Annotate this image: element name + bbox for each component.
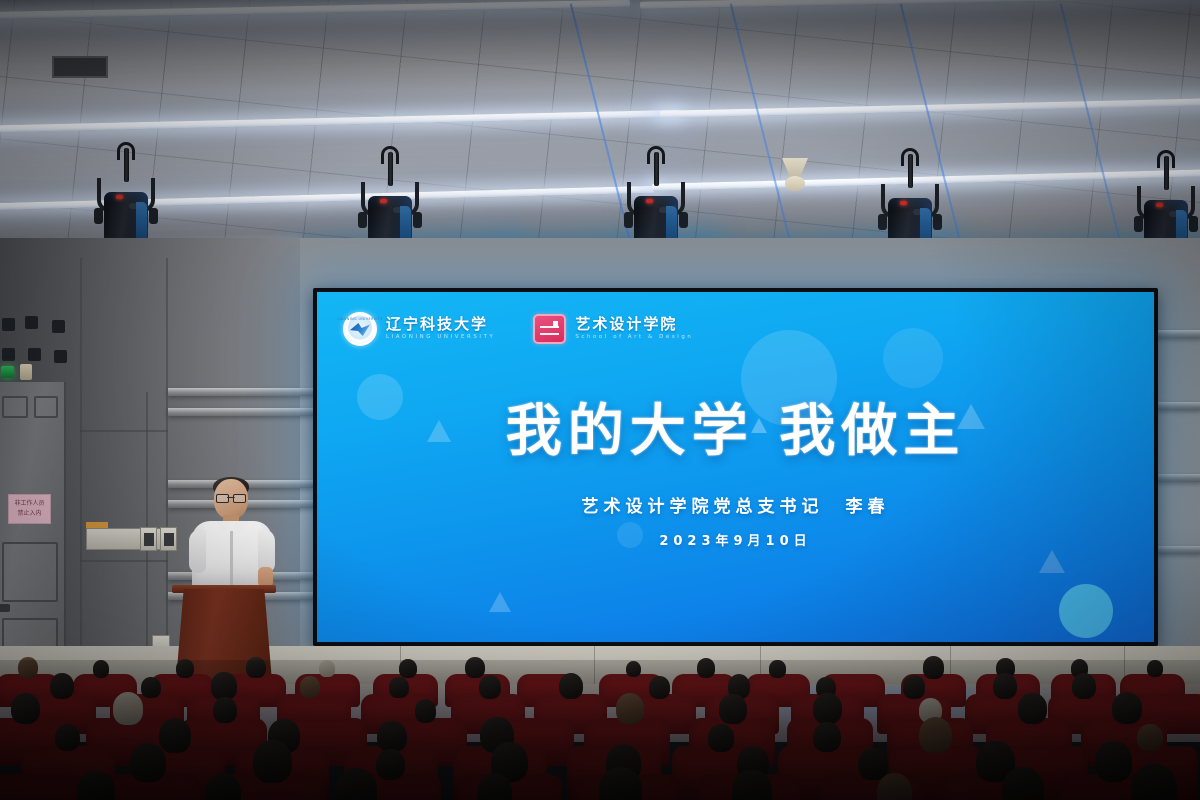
- stage-light-ear: [1189, 216, 1198, 232]
- speaker-shirt-placket: [230, 531, 233, 589]
- audience-head: [141, 677, 161, 698]
- slide-decor-triangle: [1039, 550, 1065, 573]
- door-warning-sign: 非工作人员 禁止入内: [8, 494, 51, 524]
- audience-head: [1137, 724, 1162, 752]
- audience-head: [649, 676, 670, 699]
- audience-head: [319, 660, 335, 677]
- stage-light-rod: [654, 152, 659, 186]
- school-name-cn: 艺术设计学院: [575, 317, 693, 333]
- wall-ledge: [1156, 330, 1200, 338]
- wall-ledge: [1156, 474, 1200, 482]
- audience-head: [300, 676, 320, 698]
- door-panel: [34, 396, 58, 418]
- wall-seam: [80, 258, 82, 678]
- audience-head: [211, 672, 237, 700]
- audience-head: [246, 657, 266, 679]
- auditorium-scene: 非工作人员 禁止入内 LIAONING UNIVERSITY 辽宁科技大学 LI…: [0, 0, 1200, 800]
- speaker-person: [188, 479, 276, 591]
- speaker-sleeve-left: [189, 529, 206, 573]
- slide-main-title: 我的大学 我做主: [317, 404, 1154, 460]
- audience-head: [130, 743, 166, 782]
- audience-head: [93, 660, 110, 678]
- audience-head: [377, 721, 406, 753]
- stage-light-rod: [1164, 156, 1169, 190]
- glasses-icon: [216, 494, 246, 501]
- audience-head: [77, 771, 115, 800]
- stage-light-ear: [679, 212, 688, 228]
- stage-light-led-icon: [646, 199, 653, 203]
- audience-head: [465, 657, 485, 678]
- audience-head: [18, 657, 38, 678]
- stage-light-ear: [413, 212, 422, 228]
- stage-light-ear: [149, 208, 158, 224]
- audience-head: [626, 661, 641, 678]
- wall-lamp-icon: [20, 364, 32, 380]
- stage-light-rod: [124, 148, 129, 182]
- audience-head: [399, 659, 417, 678]
- led-screen-frame: LIAONING UNIVERSITY 辽宁科技大学 LIAONING UNIV…: [313, 288, 1158, 646]
- wall-socket[interactable]: [140, 527, 157, 551]
- university-emblem-icon: LIAONING UNIVERSITY: [343, 312, 377, 346]
- audience-head: [1112, 692, 1142, 724]
- audience-head: [376, 749, 405, 781]
- audience-head: [708, 724, 734, 752]
- audience-head: [479, 675, 501, 699]
- audience-head: [616, 693, 645, 724]
- university-emblem-ring-text: LIAONING UNIVERSITY: [337, 317, 382, 321]
- audience-head: [253, 740, 293, 783]
- wall-vent-square: [2, 318, 15, 331]
- audience-head: [176, 659, 194, 678]
- slide-decor-circle: [1059, 584, 1113, 638]
- university-name-en: LIAONING UNIVERSITY: [386, 333, 495, 342]
- slide-subtitle: 艺术设计学院党总支书记 李春: [317, 492, 1154, 517]
- door-panel: [2, 396, 28, 418]
- exit-indicator-icon: [1, 366, 14, 378]
- wall-vent-square: [25, 316, 38, 329]
- university-name-cn: 辽宁科技大学: [386, 317, 495, 333]
- wall-seam: [80, 430, 168, 432]
- school-of-art-logo: 艺术设计学院 School of Art & Design: [533, 314, 693, 344]
- school-name-en: School of Art & Design: [575, 333, 693, 342]
- wall-ledge: [1156, 546, 1200, 554]
- audience-head: [1002, 767, 1044, 800]
- university-logo: LIAONING UNIVERSITY 辽宁科技大学 LIAONING UNIV…: [343, 312, 495, 346]
- art-school-seal-icon: [533, 314, 566, 344]
- stage-light-ear: [94, 208, 103, 224]
- stage-light-rod: [388, 152, 393, 186]
- stage-light-ear: [1134, 216, 1143, 232]
- stage-light-ear: [933, 214, 942, 230]
- audience-head: [55, 724, 80, 751]
- stage-light-rod: [908, 154, 913, 188]
- wall-vent-square: [2, 348, 15, 361]
- door-handle[interactable]: [0, 604, 10, 612]
- door-sign-line2: 禁止入内: [9, 508, 50, 518]
- presentation-slide[interactable]: LIAONING UNIVERSITY 辽宁科技大学 LIAONING UNIV…: [317, 292, 1154, 642]
- audience-head: [213, 697, 237, 723]
- audience-seat: [0, 774, 84, 800]
- speaker-forearm: [258, 567, 273, 587]
- slide-decor-triangle: [489, 592, 511, 612]
- audience-head: [813, 693, 842, 724]
- wall-vent-square: [28, 348, 41, 361]
- stage-light-ear: [358, 212, 367, 228]
- stage-light-lens: [136, 202, 147, 242]
- side-door[interactable]: 非工作人员 禁止入内: [0, 382, 66, 680]
- audience-head: [813, 722, 841, 753]
- audience-head: [697, 658, 715, 678]
- audience-head: [719, 694, 747, 724]
- audience-head: [415, 699, 437, 722]
- stage-light-led-icon: [116, 195, 123, 199]
- audience-head: [1072, 673, 1096, 699]
- audience-head: [11, 693, 40, 725]
- wall-ledge: [168, 388, 314, 396]
- wall-seam: [80, 560, 168, 562]
- stage-light-ear: [624, 212, 633, 228]
- audience-head: [159, 718, 191, 753]
- slide-date: 2023年9月10日: [317, 530, 1154, 549]
- audience-head: [923, 656, 944, 679]
- slide-logo-row: LIAONING UNIVERSITY 辽宁科技大学 LIAONING UNIV…: [343, 312, 693, 346]
- audience-head: [50, 673, 74, 699]
- stage-light-led-icon: [900, 201, 907, 205]
- audience-head: [389, 677, 408, 698]
- audience-head: [919, 717, 953, 753]
- ceiling-speaker-driver: [785, 176, 805, 191]
- wall-vent-square: [54, 350, 67, 363]
- door-sign-line1: 非工作人员: [9, 495, 50, 508]
- audience-head: [113, 692, 143, 725]
- audience-head: [993, 673, 1017, 699]
- slide-decor-circle: [883, 328, 943, 388]
- wall-ledge: [1156, 402, 1200, 410]
- audience-area: [0, 660, 1200, 800]
- stage-light-led-icon: [1156, 203, 1163, 207]
- stage-light-ear: [878, 214, 887, 230]
- audience-head: [769, 660, 785, 678]
- wall-vent-square: [52, 320, 65, 333]
- audience-head: [903, 675, 925, 698]
- wall-ledge: [168, 408, 314, 416]
- wall-seam: [166, 258, 168, 678]
- audience-head: [1147, 660, 1163, 677]
- audience-head: [559, 673, 584, 700]
- audience-head: [1018, 693, 1046, 724]
- audience-head: [1095, 741, 1133, 782]
- door-panel: [2, 542, 58, 602]
- wall-socket[interactable]: [160, 527, 177, 551]
- stage-light-led-icon: [380, 199, 387, 203]
